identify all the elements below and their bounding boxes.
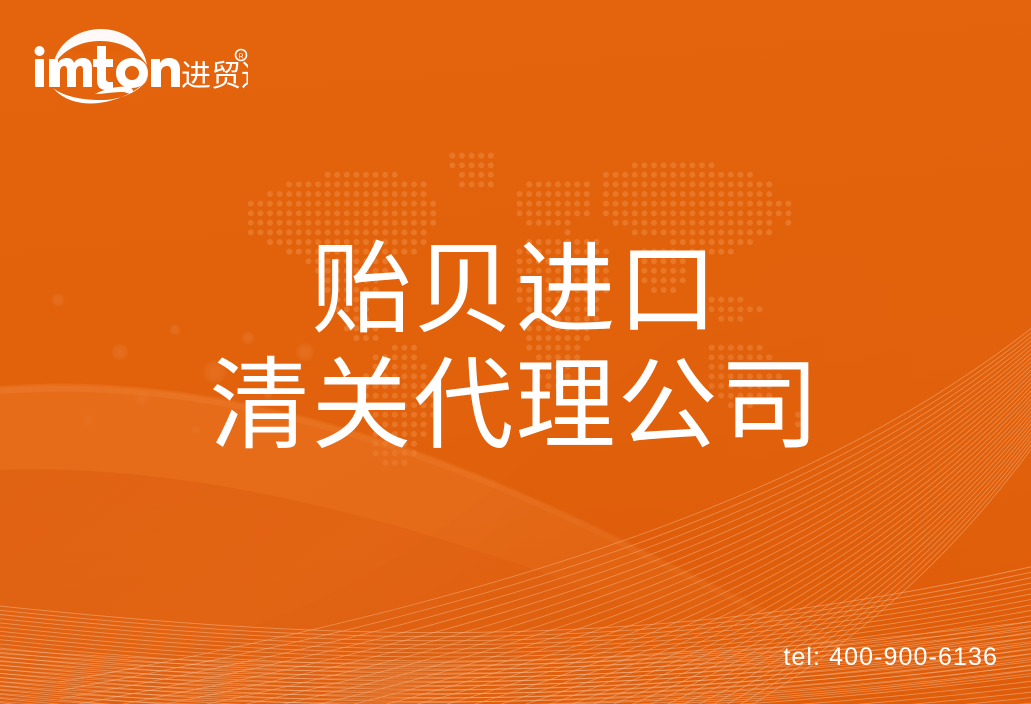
registered-trademark-icon: R: [236, 50, 247, 61]
brand-logo[interactable]: 进贸通 R: [33, 26, 248, 104]
contact-phone[interactable]: tel: 400-900-6136: [783, 643, 998, 672]
logo-wordmark-latin: [35, 46, 181, 90]
logo-wordmark-chinese: 进贸通: [181, 59, 248, 94]
svg-text:R: R: [238, 54, 243, 61]
promo-banner: 进贸通 R 贻贝进口 清关代理公司 tel: 400-900-6136: [0, 0, 1031, 704]
line-fan-decoration: [0, 0, 1031, 704]
